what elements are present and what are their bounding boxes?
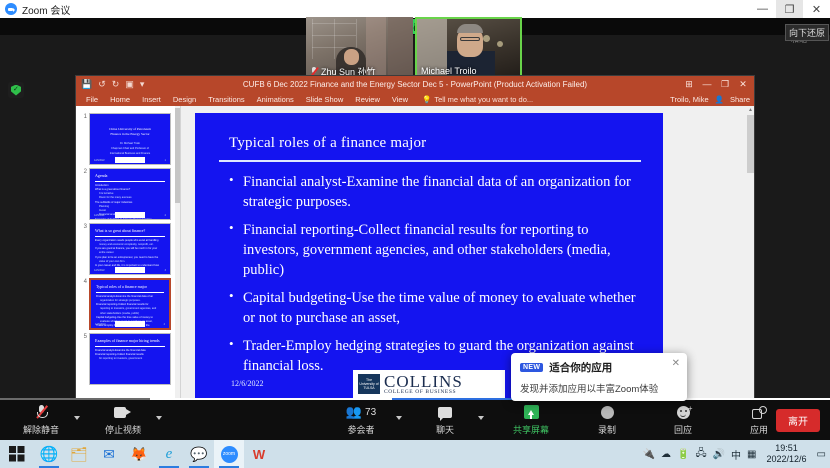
clock-time: 19:51 xyxy=(767,443,807,454)
slide-title: Typical roles of a finance major xyxy=(217,135,643,152)
slide-thumbnail[interactable]: Agenda Introduction What is a great abou… xyxy=(89,168,171,220)
thumb-bullet: reporting to investors, government agenc… xyxy=(96,307,164,311)
slide-thumbnail-item[interactable]: 2 Agenda Introduction What is a great ab… xyxy=(76,165,180,220)
tab-animations[interactable]: Animations xyxy=(251,95,300,104)
powerpoint-window-controls: ⊞ — ❐ ✕ xyxy=(680,76,752,92)
zoom-apps-popup[interactable]: NEW 适合你的应用 ✕ 发现并添加应用以丰富Zoom体验 xyxy=(511,353,687,401)
undo-icon[interactable]: ↺ xyxy=(98,79,106,90)
slide-number: 1 xyxy=(79,113,87,120)
record-icon xyxy=(601,404,614,420)
start-slideshow-icon[interactable]: ▣ xyxy=(125,79,134,90)
thumb-date: 12/6/2022 xyxy=(94,214,105,217)
clock-date: 2022/12/6 xyxy=(767,454,807,465)
quick-access-toolbar: 💾 ↺ ↻ ▣ ▾ xyxy=(76,79,144,90)
video-thumbnail-strip: Zhu Sun 孙竹 Michael Troilo xyxy=(306,17,523,79)
slide-thumbnail-panel[interactable]: 1 China University of Petroleum Finance … xyxy=(76,106,181,406)
zoom-window-titlebar: Zoom 会议 — ❐ ✕ xyxy=(0,0,830,18)
taskbar-clock[interactable]: 19:51 2022/12/6 xyxy=(767,443,807,466)
slide-bullet: Financial reporting-Collect financial re… xyxy=(229,220,643,280)
person-share-icon: 👤 xyxy=(715,95,724,104)
unmute-label: 解除静音 xyxy=(23,423,59,436)
video-tile-active-speaker[interactable]: Michael Troilo xyxy=(415,17,522,79)
thumb-page: 2 xyxy=(165,214,166,217)
popup-body-text: 发现并添加应用以丰富Zoom体验 xyxy=(520,381,678,395)
thumb-page: 1 xyxy=(165,159,166,162)
zoom-window-controls: — ❐ ✕ xyxy=(749,0,830,18)
tell-me-label: Tell me what you want to do... xyxy=(434,95,533,104)
wps-office-icon[interactable]: W xyxy=(244,440,274,468)
internet-explorer-icon[interactable]: e xyxy=(154,440,184,468)
close-icon[interactable]: ✕ xyxy=(672,358,680,369)
slide-thumbnail-item[interactable]: 3 What is so great about finance? Every … xyxy=(76,220,180,275)
slide-thumbnail[interactable]: China University of Petroleum Finance in… xyxy=(89,113,171,165)
lightbulb-icon: 💡 xyxy=(422,95,431,104)
thumb-sub-line: Chapman Chair and Professor of xyxy=(95,147,165,151)
popup-header: NEW 适合你的应用 xyxy=(520,360,678,375)
redo-icon[interactable]: ↻ xyxy=(112,79,120,90)
reactions-button[interactable]: + 回应 xyxy=(652,400,714,440)
tab-design[interactable]: Design xyxy=(167,95,202,104)
slide-vertical-scrollbar[interactable]: ▲ ▼ xyxy=(747,106,754,406)
record-button[interactable]: 录制 xyxy=(576,400,638,440)
ime-mode-icon[interactable]: ▦ xyxy=(747,449,756,460)
thumb-logo xyxy=(115,267,145,273)
tab-transitions[interactable]: Transitions xyxy=(202,95,250,104)
slide-bullet-list: Financial analyst-Examine the financial … xyxy=(217,172,643,376)
powerpoint-close-button[interactable]: ✕ xyxy=(734,76,752,92)
slide-logo: The University of TULSA COLLINS COLLEGE … xyxy=(353,370,505,398)
participants-options-caret[interactable] xyxy=(394,400,408,440)
video-camera-icon xyxy=(114,404,132,420)
ribbon-right-group: Troilo, Mike 👤 Share xyxy=(670,95,750,104)
participants-icon: 👥 73 xyxy=(346,404,376,420)
zoom-window-title: Zoom 会议 xyxy=(22,2,70,17)
windows-taskbar: 🌐 🗂 ✉ 🦊 e 💬 zoom W 🔌 ☁ 🔋 🖧 🔊 中 ▦ 19:51 2… xyxy=(0,440,830,468)
thumb-logo xyxy=(115,157,145,163)
stop-video-label: 停止视频 xyxy=(105,423,141,436)
thumbnail-scrollbar[interactable] xyxy=(175,106,180,406)
unmute-button[interactable]: 解除静音 xyxy=(10,400,72,440)
tab-view[interactable]: View xyxy=(386,95,414,104)
record-label: 录制 xyxy=(598,423,616,436)
zoom-logo-icon xyxy=(5,3,17,15)
new-badge: NEW xyxy=(520,363,543,372)
logo-name-primary: COLLINS xyxy=(384,373,463,390)
thumb-page: 3 xyxy=(165,269,166,272)
share-button[interactable]: Share xyxy=(730,95,750,104)
video-tile-participant[interactable]: Zhu Sun 孙竹 xyxy=(306,17,413,79)
slide-thumbnail-selected[interactable]: Typical roles of a finance major Financi… xyxy=(89,278,171,330)
thumb-heading: What is so great about finance? xyxy=(95,228,165,234)
thumb-bullet: organization against financial loss. xyxy=(96,329,164,330)
slide-number: 4 xyxy=(79,278,87,285)
thumb-heading: Agenda xyxy=(95,173,165,179)
network-icon[interactable]: 🖧 xyxy=(695,446,706,463)
thumb-date: 12/6/2022 xyxy=(94,269,105,272)
thumb-title-line: Finance in the Energy Sector xyxy=(95,132,165,137)
thumb-logo xyxy=(115,321,145,327)
tab-review[interactable]: Review xyxy=(349,95,386,104)
mic-muted-icon xyxy=(36,404,47,420)
thumb-date: 12/6/2022 xyxy=(95,323,106,326)
thumb-sub-line: Dr. Michael Troilo xyxy=(95,142,165,146)
slide-number: 2 xyxy=(79,168,87,175)
slide-number: 3 xyxy=(79,223,87,230)
powerpoint-minimize-button[interactable]: — xyxy=(698,76,716,92)
slide-thumbnail[interactable]: Examples of finance major hiring trends … xyxy=(89,333,171,385)
system-tray: 🔌 ☁ 🔋 🖧 🔊 中 ▦ 19:51 2022/12/6 ▭ xyxy=(643,443,830,466)
show-desktop-icon[interactable]: ▭ xyxy=(817,449,826,460)
chat-label: 聊天 xyxy=(436,423,454,436)
tab-file[interactable]: File xyxy=(80,95,104,104)
customize-qat-icon[interactable]: ▾ xyxy=(140,79,145,90)
thumb-page: 4 xyxy=(164,323,165,326)
slide-thumbnail[interactable]: What is so great about finance? Every or… xyxy=(89,223,171,275)
audio-options-caret[interactable] xyxy=(72,400,86,440)
slide-thumbnail-item[interactable]: 1 China University of Petroleum Finance … xyxy=(76,110,180,165)
edge-icon[interactable]: 🌐 xyxy=(34,440,64,468)
slide-title-rule xyxy=(219,160,641,162)
wechat-icon[interactable]: 💬 xyxy=(184,440,214,468)
zoom-minimize-button[interactable]: — xyxy=(749,0,776,18)
zoom-maximize-button[interactable]: ❐ xyxy=(776,0,803,18)
tab-insert[interactable]: Insert xyxy=(136,95,167,104)
tab-slide-show[interactable]: Slide Show xyxy=(300,95,350,104)
chat-options-caret[interactable] xyxy=(476,400,490,440)
firefox-icon[interactable]: 🦊 xyxy=(124,440,154,468)
video-tile-name-text: Michael Troilo xyxy=(421,66,477,76)
tell-me-search[interactable]: 💡 Tell me what you want to do... xyxy=(414,95,533,104)
windows-start-icon[interactable] xyxy=(0,446,34,462)
thumb-heading: Examples of finance major hiring trends xyxy=(95,338,165,344)
thumb-heading: Typical roles of a finance major xyxy=(96,284,164,290)
scroll-up-icon[interactable]: ▲ xyxy=(747,106,754,114)
university-crest-icon: The University of TULSA xyxy=(358,374,380,394)
zoom-taskbar-icon[interactable]: zoom xyxy=(214,440,244,468)
mail-icon[interactable]: ✉ xyxy=(94,440,124,468)
stop-video-button[interactable]: 停止视频 xyxy=(92,400,154,440)
shield-check-icon xyxy=(8,82,24,98)
zoom-meeting-toolbar: 解除静音 停止视频 👥 73 参会者 聊天 xyxy=(0,400,830,440)
logo-name-secondary: COLLEGE OF BUSINESS xyxy=(384,390,463,396)
thumb-sub-line: International Business and Finance xyxy=(95,152,165,156)
video-options-caret[interactable] xyxy=(154,400,168,440)
volume-icon[interactable]: 🔊 xyxy=(713,449,725,460)
account-name[interactable]: Troilo, Mike xyxy=(670,95,708,104)
powerpoint-title-text: CUFB 6 Dec 2022 Finance and the Energy S… xyxy=(76,80,754,89)
slide-bullet: Financial analyst-Examine the financial … xyxy=(229,172,643,212)
ribbon-display-options-button[interactable]: ⊞ xyxy=(680,76,698,92)
thumb-bullet: for reporting to investors, government xyxy=(95,357,165,361)
file-explorer-icon[interactable]: 🗂 xyxy=(64,440,94,468)
apps-label: 应用 xyxy=(750,423,768,436)
slide-bullet: Capital budgeting-Use the time value of … xyxy=(229,288,643,328)
mic-muted-icon xyxy=(310,67,318,77)
participant-count: 73 xyxy=(365,407,376,418)
restore-tooltip: 向下还原 xyxy=(785,24,829,41)
popup-title: 适合你的应用 xyxy=(549,360,612,375)
battery-icon[interactable]: 🔋 xyxy=(677,449,689,460)
slide-date: 12/6/2022 xyxy=(231,379,263,388)
thumb-bullet: Examples of hedging to increase finance … xyxy=(95,218,165,220)
screen-root: Zoom 会议 — ❐ ✕ 向下还原 和缩 你正在观看Michael Troil… xyxy=(0,0,830,468)
slide-number: 5 xyxy=(79,333,87,340)
reactions-label: 回应 xyxy=(674,423,692,436)
share-screen-label: 共享屏幕 xyxy=(513,423,549,436)
save-icon[interactable]: 💾 xyxy=(81,79,92,90)
tab-home[interactable]: Home xyxy=(104,95,136,104)
participants-button[interactable]: 👥 73 参会者 xyxy=(328,400,394,440)
chat-bubble-icon xyxy=(438,404,452,420)
usb-icon[interactable]: 🔌 xyxy=(643,449,655,460)
share-screen-button[interactable]: 共享屏幕 xyxy=(500,400,562,440)
cloud-icon[interactable]: ☁ xyxy=(661,449,671,460)
participants-label: 参会者 xyxy=(347,423,374,436)
slide-thumbnail-item[interactable]: 4 Typical roles of a finance major Finan… xyxy=(76,275,180,330)
powerpoint-titlebar: 💾 ↺ ↻ ▣ ▾ CUFB 6 Dec 2022 Finance and th… xyxy=(76,76,754,92)
zoom-close-button[interactable]: ✕ xyxy=(803,0,830,18)
share-screen-icon xyxy=(524,404,539,420)
thumb-logo xyxy=(115,212,145,218)
chat-button[interactable]: 聊天 xyxy=(414,400,476,440)
powerpoint-ribbon-tabs: File Home Insert Design Transitions Anim… xyxy=(76,92,754,106)
powerpoint-restore-button[interactable]: ❐ xyxy=(716,76,734,92)
ime-chinese-icon[interactable]: 中 xyxy=(731,447,741,462)
apps-icon xyxy=(752,404,766,420)
leave-meeting-button[interactable]: 离开 xyxy=(776,409,820,432)
thumb-date: 12/6/2022 xyxy=(94,159,105,162)
reactions-icon: + xyxy=(677,404,690,420)
slide-thumbnail-item[interactable]: 5 Examples of finance major hiring trend… xyxy=(76,330,180,385)
